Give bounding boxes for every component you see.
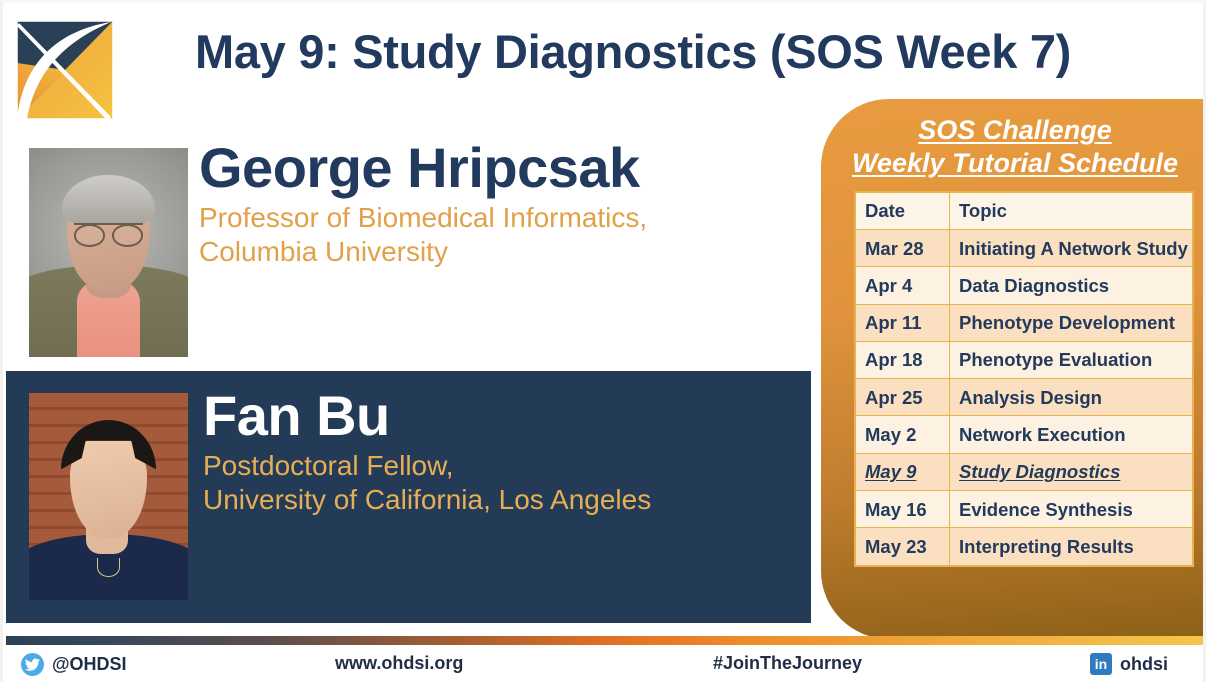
table-cell-date: Apr 11 [855, 304, 950, 341]
table-column-header: Topic [950, 192, 1194, 230]
table-cell-topic: Evidence Synthesis [950, 491, 1194, 528]
table-column-header: Date [855, 192, 950, 230]
hashtag-label: #JoinTheJourney [713, 653, 862, 674]
website-label: www.ohdsi.org [335, 653, 463, 674]
table-cell-date: Apr 18 [855, 341, 950, 378]
avatar-speaker-2 [29, 393, 188, 600]
table-cell-date: May 9 [855, 453, 950, 490]
table-cell-date: Apr 4 [855, 267, 950, 304]
footer-divider [6, 636, 1206, 645]
footer: @OHDSI www.ohdsi.org #JoinTheJourney in … [3, 645, 1206, 682]
table-row: Apr 25Analysis Design [855, 379, 1193, 416]
speaker-1-affiliation-line2: Columbia University [199, 235, 647, 269]
table-row: May 16Evidence Synthesis [855, 491, 1193, 528]
speaker-2-affiliation-line1: Postdoctoral Fellow, [203, 449, 651, 483]
table-cell-topic: Phenotype Development [950, 304, 1194, 341]
twitter-handle-label: @OHDSI [52, 654, 127, 675]
table-cell-date: May 23 [855, 528, 950, 566]
table-row: Apr 11Phenotype Development [855, 304, 1193, 341]
schedule-heading: SOS Challenge Weekly Tutorial Schedule [821, 99, 1206, 180]
table-row: May 9Study Diagnostics [855, 453, 1193, 490]
twitter-link[interactable]: @OHDSI [21, 653, 127, 676]
table-cell-topic: Initiating A Network Study [950, 230, 1194, 267]
hashtag-label-wrap: #JoinTheJourney [713, 653, 862, 674]
schedule-panel: SOS Challenge Weekly Tutorial Schedule D… [821, 99, 1206, 639]
website-link[interactable]: www.ohdsi.org [335, 653, 463, 674]
speaker-2-name: Fan Bu [203, 387, 651, 445]
speaker-1-name: George Hripcsak [199, 139, 647, 197]
table-cell-date: May 2 [855, 416, 950, 453]
table-cell-topic: Phenotype Evaluation [950, 341, 1194, 378]
slide-root: May 9: Study Diagnostics (SOS Week 7) Ge… [0, 0, 1206, 682]
table-row: May 23Interpreting Results [855, 528, 1193, 566]
schedule-heading-line1: SOS Challenge [918, 115, 1112, 145]
schedule-heading-line2: Weekly Tutorial Schedule [852, 148, 1178, 178]
table-cell-topic: Interpreting Results [950, 528, 1194, 566]
table-cell-date: Apr 25 [855, 379, 950, 416]
page-title: May 9: Study Diagnostics (SOS Week 7) [128, 25, 1138, 79]
ohdsi-logo [15, 17, 115, 123]
table-row: Apr 4Data Diagnostics [855, 267, 1193, 304]
table-row: Mar 28Initiating A Network Study [855, 230, 1193, 267]
table-cell-topic: Study Diagnostics [950, 453, 1194, 490]
twitter-icon [21, 653, 44, 676]
schedule-table: DateTopicMar 28Initiating A Network Stud… [854, 191, 1194, 567]
speaker-1-affiliation-line1: Professor of Biomedical Informatics, [199, 201, 647, 235]
table-row: Apr 18Phenotype Evaluation [855, 341, 1193, 378]
linkedin-handle-label: ohdsi [1120, 654, 1168, 675]
table-cell-topic: Data Diagnostics [950, 267, 1194, 304]
table-row: May 2Network Execution [855, 416, 1193, 453]
table-cell-topic: Network Execution [950, 416, 1194, 453]
speaker-card-2: Fan Bu Postdoctoral Fellow, University o… [6, 371, 811, 623]
speaker-card-1: George Hripcsak Professor of Biomedical … [3, 131, 811, 371]
table-header-row: DateTopic [855, 192, 1193, 230]
table-cell-topic: Analysis Design [950, 379, 1194, 416]
table-cell-date: Mar 28 [855, 230, 950, 267]
linkedin-icon: in [1090, 653, 1112, 675]
linkedin-link[interactable]: in ohdsi [1090, 653, 1168, 675]
avatar-speaker-1 [29, 148, 188, 357]
speaker-2-affiliation-line2: University of California, Los Angeles [203, 483, 651, 517]
table-cell-date: May 16 [855, 491, 950, 528]
